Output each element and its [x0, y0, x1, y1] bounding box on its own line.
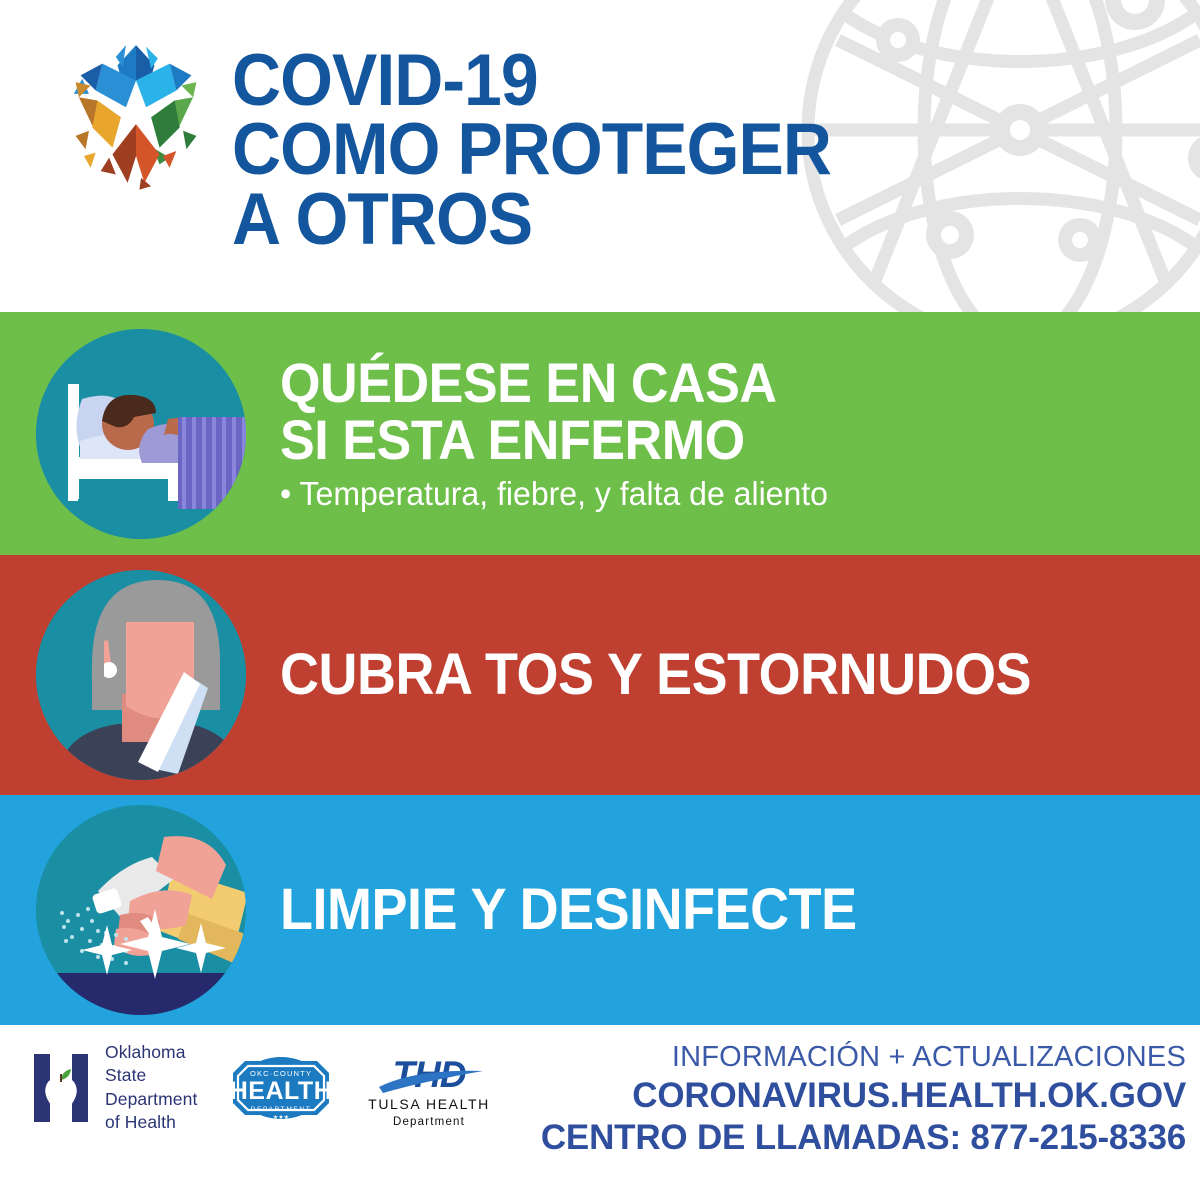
person-with-tissue-icon: [36, 570, 246, 780]
oklahoma-state-department-of-health-logo: Oklahoma State Department of Health: [30, 1041, 197, 1134]
covid-19-pinwheel-logo: [52, 30, 220, 198]
osdh-h-apple-mark: [30, 1052, 92, 1124]
footer: Oklahoma State Department of Health OKC·…: [0, 1025, 1200, 1200]
contact-info-label: INFORMACIÓN + ACTUALIZACIONES: [541, 1039, 1186, 1075]
svg-text:TULSA HEALTH: TULSA HEALTH: [369, 1096, 491, 1112]
okc-county-health-department-logo: OKC·COUNTY HEALTH DEPARTMENT ★★★: [223, 1045, 339, 1131]
svg-text:Department: Department: [393, 1116, 465, 1128]
contact-call-center[interactable]: CENTRO DE LLAMADAS: 877-215-8336: [541, 1117, 1186, 1159]
band-subtext-stay-home: • Temperatura, fiebre, y falta de alient…: [280, 474, 1172, 514]
svg-text:★★★: ★★★: [273, 1114, 289, 1121]
globe-network-graphic: [780, 0, 1200, 312]
band-heading-stay-home: QUÉDESE EN CASA SI ESTA ENFERMO: [280, 354, 1136, 469]
contact-website[interactable]: CORONAVIRUS.HEALTH.OK.GOV: [541, 1075, 1186, 1117]
band-text-cover-cough: CUBRA TOS Y ESTORNUDOS: [280, 645, 1200, 705]
person-in-bed-icon: [36, 329, 246, 539]
footer-contact-block: INFORMACIÓN + ACTUALIZACIONES CORONAVIRU…: [541, 1039, 1186, 1159]
page-title: COVID-19 COMO PROTEGER A OTROS: [232, 46, 831, 254]
band-text-stay-home: QUÉDESE EN CASA SI ESTA ENFERMO • Temper…: [280, 354, 1200, 514]
band-text-clean-disinfect: LIMPIE Y DESINFECTE: [280, 880, 1200, 940]
section-clean-disinfect: LIMPIE Y DESINFECTE: [0, 795, 1200, 1025]
header: COVID-19 COMO PROTEGER A OTROS: [0, 0, 1200, 312]
svg-text:HEALTH: HEALTH: [230, 1077, 333, 1105]
spray-bottle-cleaning-icon: [36, 805, 246, 1015]
band-heading-clean-disinfect: LIMPIE Y DESINFECTE: [280, 880, 1136, 940]
osdh-logo-text: Oklahoma State Department of Health: [105, 1041, 197, 1134]
band-heading-cover-cough: CUBRA TOS Y ESTORNUDOS: [280, 645, 1136, 705]
section-stay-home: QUÉDESE EN CASA SI ESTA ENFERMO • Temper…: [0, 312, 1200, 555]
tulsa-health-department-logo: THD TULSA HEALTH Department: [365, 1045, 493, 1131]
section-cover-cough: CUBRA TOS Y ESTORNUDOS: [0, 555, 1200, 795]
svg-text:DEPARTMENT: DEPARTMENT: [251, 1106, 312, 1113]
footer-logo-group: Oklahoma State Department of Health OKC·…: [30, 1041, 493, 1134]
